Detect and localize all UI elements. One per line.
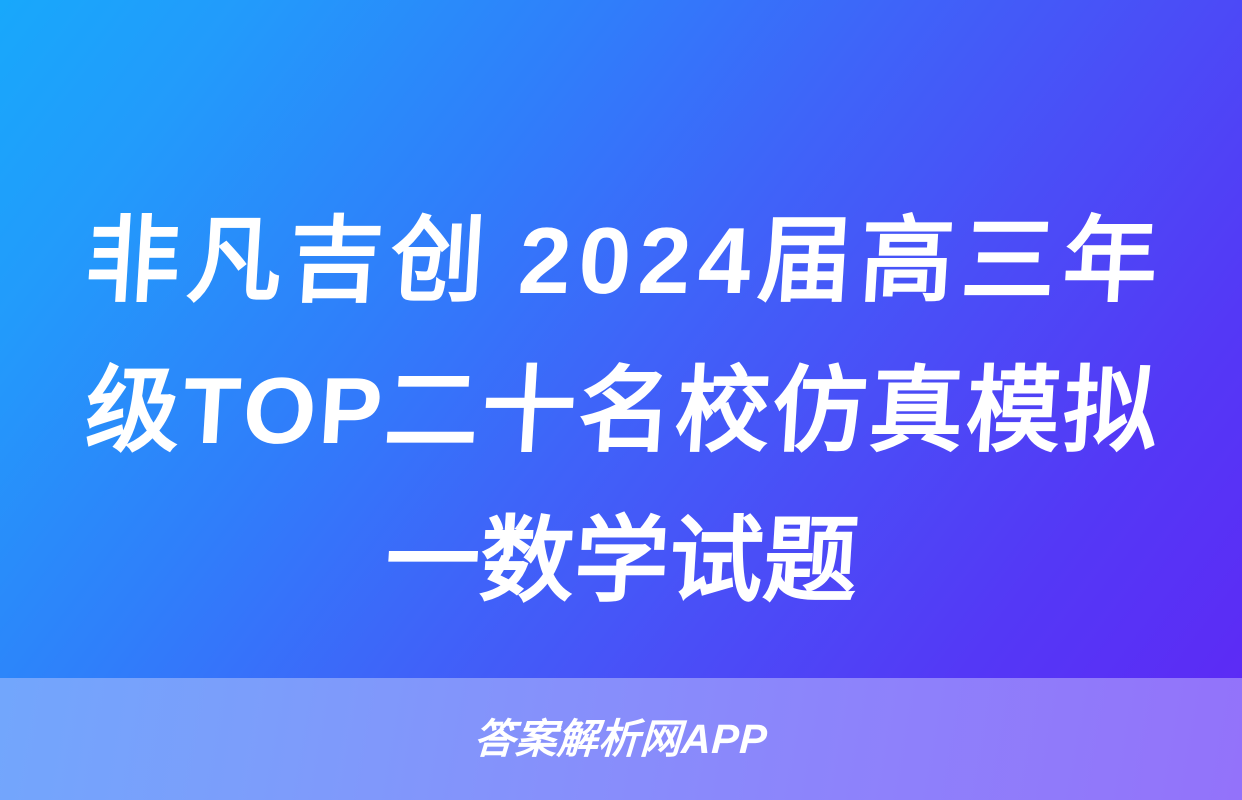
poster-title-glyph: T [178,336,245,486]
poster-title-glyph: 吉 [285,186,389,336]
poster-title-glyph: 拟 [1059,336,1163,486]
poster-root: 非凡吉创 2024届高三年 级TOP二十名校仿真模拟 一数学试题 答案解析网AP… [0,0,1242,800]
poster-title-glyph: 凡 [183,186,287,336]
poster-title-glyph: P [315,336,387,486]
poster-title-glyph: 十 [477,336,581,486]
poster-title-glyph: 高 [856,186,960,336]
hero-gradient-panel: 非凡吉创 2024届高三年 级TOP二十名校仿真模拟 一数学试题 [0,0,1242,678]
poster-title-glyph: 二 [380,336,484,486]
poster-title-line-2: 级TOP二十名校仿真模拟 [81,336,1162,486]
poster-title-glyph: 创 [386,186,490,336]
watermark-app-label: 答案解析网APP [473,719,768,760]
poster-title-glyph: 0 [574,186,636,336]
poster-title-line-1: 非凡吉创 2024届高三年 [81,186,1162,336]
poster-title-glyph: 非 [81,186,185,336]
poster-title-line-3: 一数学试题 [81,486,1162,636]
poster-title-glyph: O [239,336,322,486]
poster-title-glyph: 校 [671,336,775,486]
poster-title-glyph: 年 [1059,186,1163,336]
poster-title-glyph: 真 [865,336,969,486]
poster-title-glyph [488,186,517,336]
poster-title-glyph: 4 [694,186,756,336]
poster-title-glyph: 名 [574,336,678,486]
poster-title-glyph: 仿 [768,336,872,486]
poster-title-glyph: 三 [957,186,1061,336]
poster-title-glyph: 2 [634,186,696,336]
poster-title-glyph: 届 [754,186,858,336]
poster-title-glyph: 模 [962,336,1066,486]
poster-title-glyph: 2 [514,186,576,336]
footer-watermark-strip: 答案解析网APP [0,678,1242,800]
poster-title-block: 非凡吉创 2024届高三年 级TOP二十名校仿真模拟 一数学试题 [86,186,1158,636]
poster-title-glyph: 级 [81,336,185,486]
